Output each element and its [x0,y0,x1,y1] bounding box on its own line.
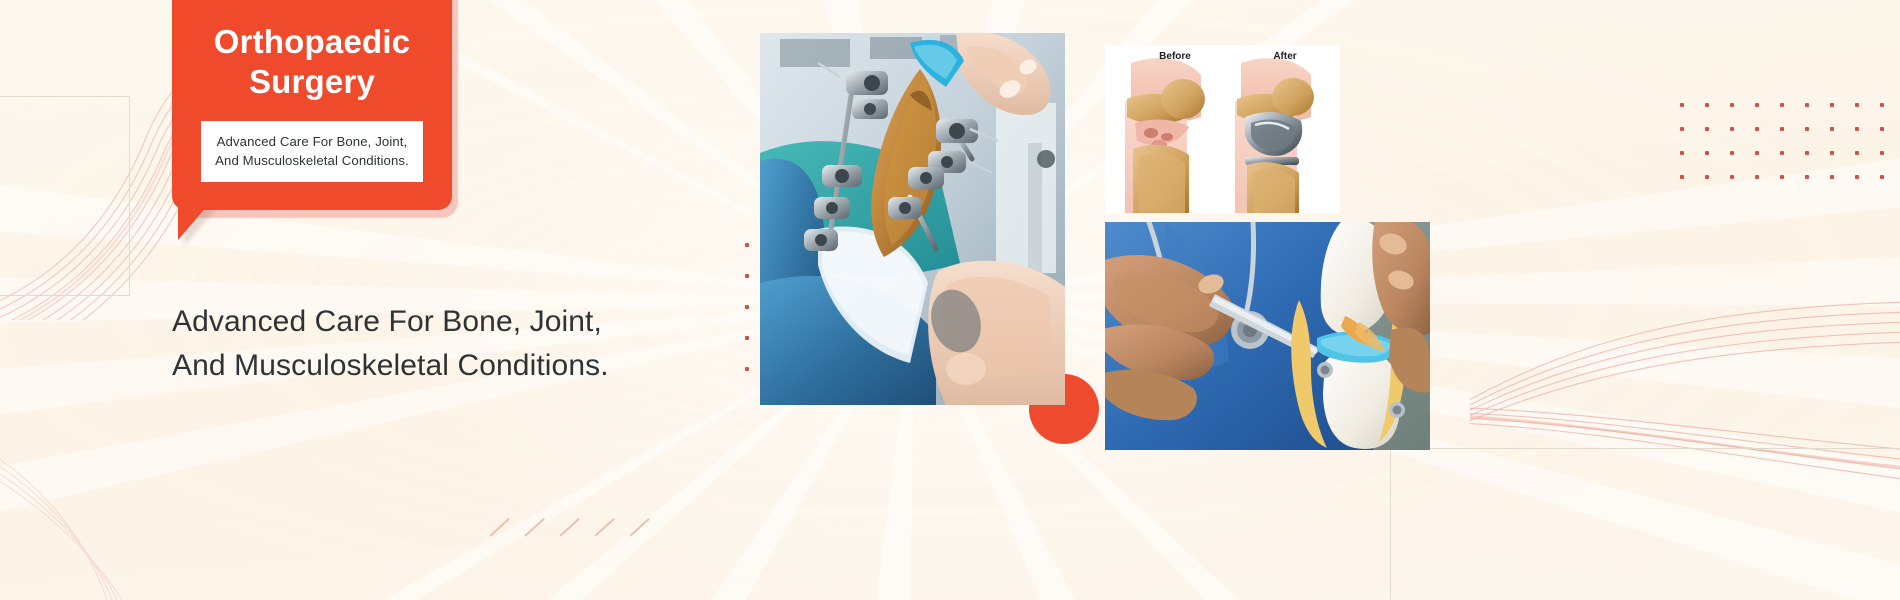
decorative-outline-box-left [0,96,130,296]
banner-stage: Orthopaedic Surgery Advanced Care For Bo… [0,0,1900,600]
badge-title: Orthopaedic Surgery [192,22,432,103]
badge-body: Orthopaedic Surgery Advanced Care For Bo… [172,0,452,210]
badge-subtitle-line1: Advanced Care For Bone, [217,134,372,149]
badge-subtitle-line3: Conditions. [342,153,409,168]
knee-replacement-before-after-diagram: Before After [1105,45,1340,213]
orthopaedic-surgery-badge: Orthopaedic Surgery Advanced Care For Bo… [172,0,452,210]
after-label: After [1273,51,1296,62]
badge-subtitle-box: Advanced Care For Bone, Joint, And Muscu… [201,121,423,182]
banner-headline: Advanced Care For Bone, Joint, And Muscu… [172,300,732,387]
badge-title-line1: Orthopaedic [214,23,411,60]
headline-line1: Advanced Care For Bone, Joint, [172,300,732,344]
orthopaedic-surgery-photo [760,33,1065,405]
before-label: Before [1159,51,1191,62]
headline-line2: And Musculoskeletal Conditions. [172,344,732,388]
knee-joint-model-photo [1105,222,1430,450]
badge-speech-tail [178,198,214,240]
decorative-outline-box-right [1390,448,1900,600]
badge-title-line2: Surgery [249,63,375,100]
